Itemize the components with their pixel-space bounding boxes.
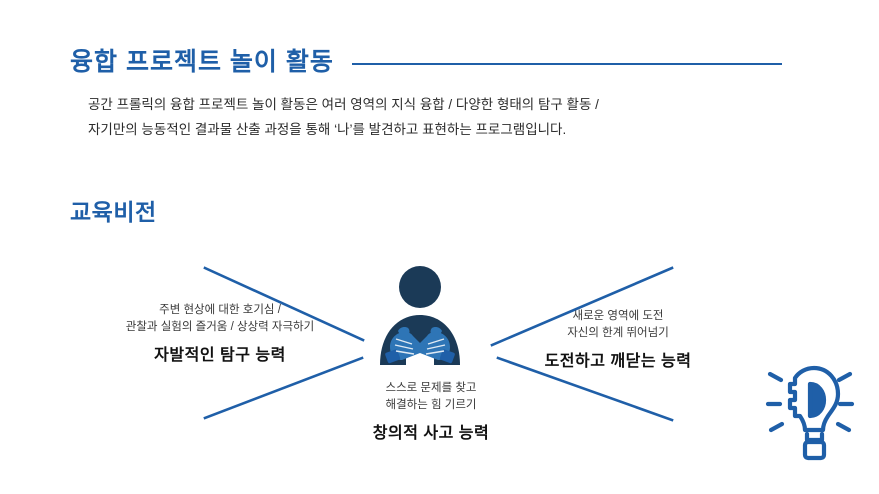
title-divider-line — [352, 63, 782, 65]
vision-label-left-headline: 자발적인 탐구 능력 — [100, 341, 340, 365]
intro-paragraph: 공간 프롤릭의 융합 프로젝트 놀이 활동은 여러 영역의 지식 융합 / 다양… — [88, 92, 828, 142]
vision-label-left-sub-1: 주변 현상에 대한 호기심 / — [100, 302, 340, 319]
vision-label-bottom-sub-1: 스스로 문제를 찾고 — [318, 380, 544, 397]
vision-label-right: 새로운 영역에 도전 자신의 한계 뛰어넘기 도전하고 깨닫는 능력 — [498, 308, 738, 371]
page-title: 융합 프로젝트 놀이 활동 — [70, 50, 334, 75]
intro-line-2: 자기만의 능동적인 결과물 산출 과정을 통해 ‘나’를 발견하고 표현하는 프… — [88, 117, 828, 142]
vision-label-right-sub-1: 새로운 영역에 도전 — [498, 308, 738, 325]
slide-canvas: 융합 프로젝트 놀이 활동 공간 프롤릭의 융합 프로젝트 놀이 활동은 여러 … — [0, 0, 879, 494]
vision-label-left-sub-2: 관찰과 실험의 즐거움 / 상상력 자극하기 — [100, 319, 340, 336]
lightbulb-gear-idea-icon — [762, 358, 858, 462]
vision-label-right-headline: 도전하고 깨닫는 능력 — [498, 347, 738, 371]
vision-label-bottom-headline: 창의적 사고 능력 — [318, 419, 544, 443]
title-row: 융합 프로젝트 놀이 활동 — [70, 40, 810, 84]
vision-label-bottom-sub-2: 해결하는 힘 기르기 — [318, 397, 544, 414]
vision-label-left: 주변 현상에 대한 호기심 / 관찰과 실험의 즐거움 / 상상력 자극하기 자… — [100, 302, 340, 365]
vision-diagram: 주변 현상에 대한 호기심 / 관찰과 실험의 즐거움 / 상상력 자극하기 자… — [0, 240, 879, 470]
vision-label-bottom: 스스로 문제를 찾고 해결하는 힘 기르기 창의적 사고 능력 — [318, 380, 544, 443]
vision-label-right-sub-2: 자신의 한계 뛰어넘기 — [498, 325, 738, 342]
intro-line-1: 공간 프롤릭의 융합 프로젝트 놀이 활동은 여러 영역의 지식 융합 / 다양… — [88, 92, 828, 117]
person-with-hands-icon — [372, 265, 468, 365]
section-heading: 교육비전 — [70, 193, 157, 227]
